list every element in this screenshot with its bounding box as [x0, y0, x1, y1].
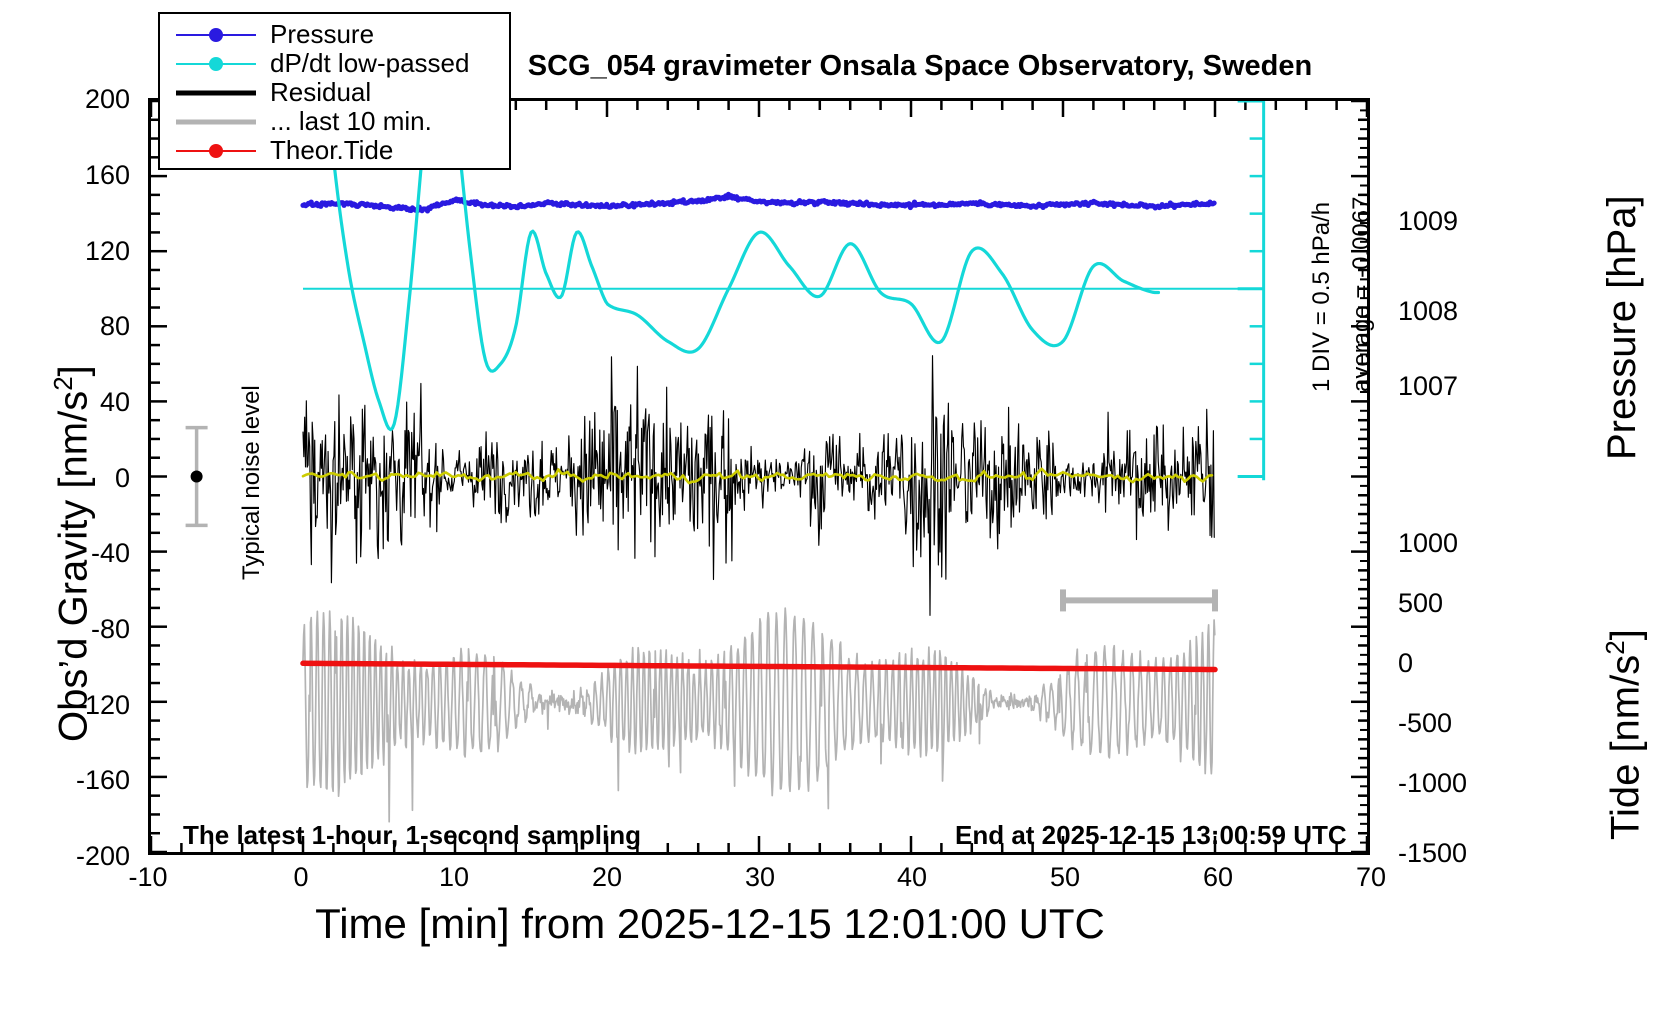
legend-item-last10[interactable]: ... last 10 min. [160, 107, 509, 136]
y-tick-left-m40: -40 [10, 538, 130, 569]
x-tick-60: 60 [1178, 862, 1258, 893]
y-tick-tide-1000: 1000 [1398, 528, 1508, 559]
y-tick-tide-m500: -500 [1398, 708, 1508, 739]
y-tick-left-160: 160 [10, 160, 130, 191]
chart-title: SCG_054 gravimeter Onsala Space Observat… [420, 50, 1420, 83]
legend-item-dpdt[interactable]: dP/dt low-passed [160, 49, 509, 78]
y-tick-left-m160: -160 [10, 765, 130, 796]
legend-label-pressure: Pressure [258, 19, 374, 50]
legend-swatch-theortide [174, 136, 258, 165]
legend-label-theortide: Theor.Tide [258, 135, 393, 166]
annotation-dpdt-average: average = -0.0067 [1348, 197, 1376, 392]
y-tick-tide-0: 0 [1398, 648, 1508, 679]
y-tick-left-0: 0 [10, 463, 130, 494]
annotation-dpdt-scale: 1 DIV = 0.5 hPa/h [1308, 202, 1336, 392]
legend-swatch-dpdt [174, 49, 258, 78]
legend-swatch-pressure [174, 20, 258, 49]
x-tick-20: 20 [567, 862, 647, 893]
legend-box: Pressure dP/dt low-passed Residual ... l… [158, 12, 511, 170]
chart-root: SCG_054 gravimeter Onsala Space Observat… [0, 0, 1660, 1020]
y-tick-tide-500: 500 [1398, 588, 1508, 619]
x-tick-0: 0 [261, 862, 341, 893]
legend-label-dpdt: dP/dt low-passed [258, 48, 469, 79]
x-tick-30: 30 [720, 862, 800, 893]
legend-label-last10: ... last 10 min. [258, 106, 432, 137]
y-tick-pressure-1007: 1007 [1398, 371, 1508, 402]
y-tick-left-120: 120 [10, 236, 130, 267]
y-tick-pressure-1008: 1008 [1398, 296, 1508, 327]
y-tick-tide-m1500: -1500 [1398, 838, 1508, 869]
legend-item-pressure[interactable]: Pressure [160, 20, 509, 49]
legend-item-residual[interactable]: Residual [160, 78, 509, 107]
y-tick-tide-m1000: -1000 [1398, 768, 1508, 799]
annotation-sampling: The latest 1-hour, 1-second sampling [183, 820, 641, 851]
legend-swatch-last10 [174, 107, 258, 136]
legend-swatch-residual [174, 78, 258, 107]
y-tick-left-40: 40 [10, 387, 130, 418]
legend-label-residual: Residual [258, 77, 371, 108]
y-tick-pressure-1009: 1009 [1398, 206, 1508, 237]
legend-item-theortide[interactable]: Theor.Tide [160, 136, 509, 165]
y-tick-left-200: 200 [10, 84, 130, 115]
annotation-noise-level: Typical noise level [238, 385, 266, 580]
y-tick-left-80: 80 [10, 311, 130, 342]
x-axis-title: Time [min] from 2025-12-15 12:01:00 UTC [0, 900, 1420, 948]
y-tick-left-m120: -120 [10, 690, 130, 721]
x-tick-10: 10 [414, 862, 494, 893]
annotation-end-time: End at 2025-12-15 13:00:59 UTC [955, 820, 1347, 851]
plot-area [148, 98, 1370, 855]
plot-canvas [151, 101, 1367, 852]
y-tick-left-m80: -80 [10, 614, 130, 645]
y-axis-tide-title: Tide [nm/s2] [1600, 629, 1648, 840]
x-tick-50: 50 [1025, 862, 1105, 893]
data-series [186, 101, 1264, 822]
y-axis-pressure-title: Pressure [hPa] [1600, 195, 1645, 460]
x-tick-40: 40 [872, 862, 952, 893]
x-tick-m10: -10 [108, 862, 188, 893]
